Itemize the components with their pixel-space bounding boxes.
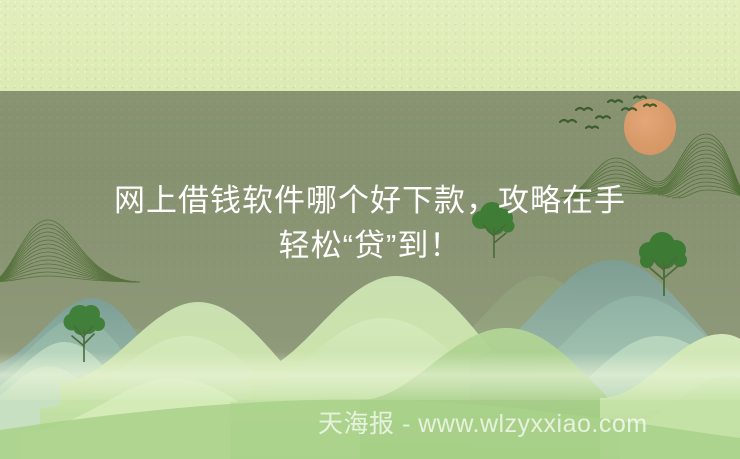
- poster-canvas: 网上借钱软件哪个好下款，攻略在手 轻松“贷”到！ 天海报 - www.wlzyx…: [0, 0, 740, 459]
- title-line-1: 网上借钱软件哪个好下款，攻略在手: [0, 178, 740, 223]
- watermark-text: 天海报 - www.wlzyxxiao.com: [318, 408, 730, 440]
- title-line-2: 轻松“贷”到！: [0, 223, 740, 268]
- sky-band-top: [0, 0, 740, 91]
- sun-icon: [624, 99, 676, 155]
- poster-title: 网上借钱软件哪个好下款，攻略在手 轻松“贷”到！: [0, 178, 740, 268]
